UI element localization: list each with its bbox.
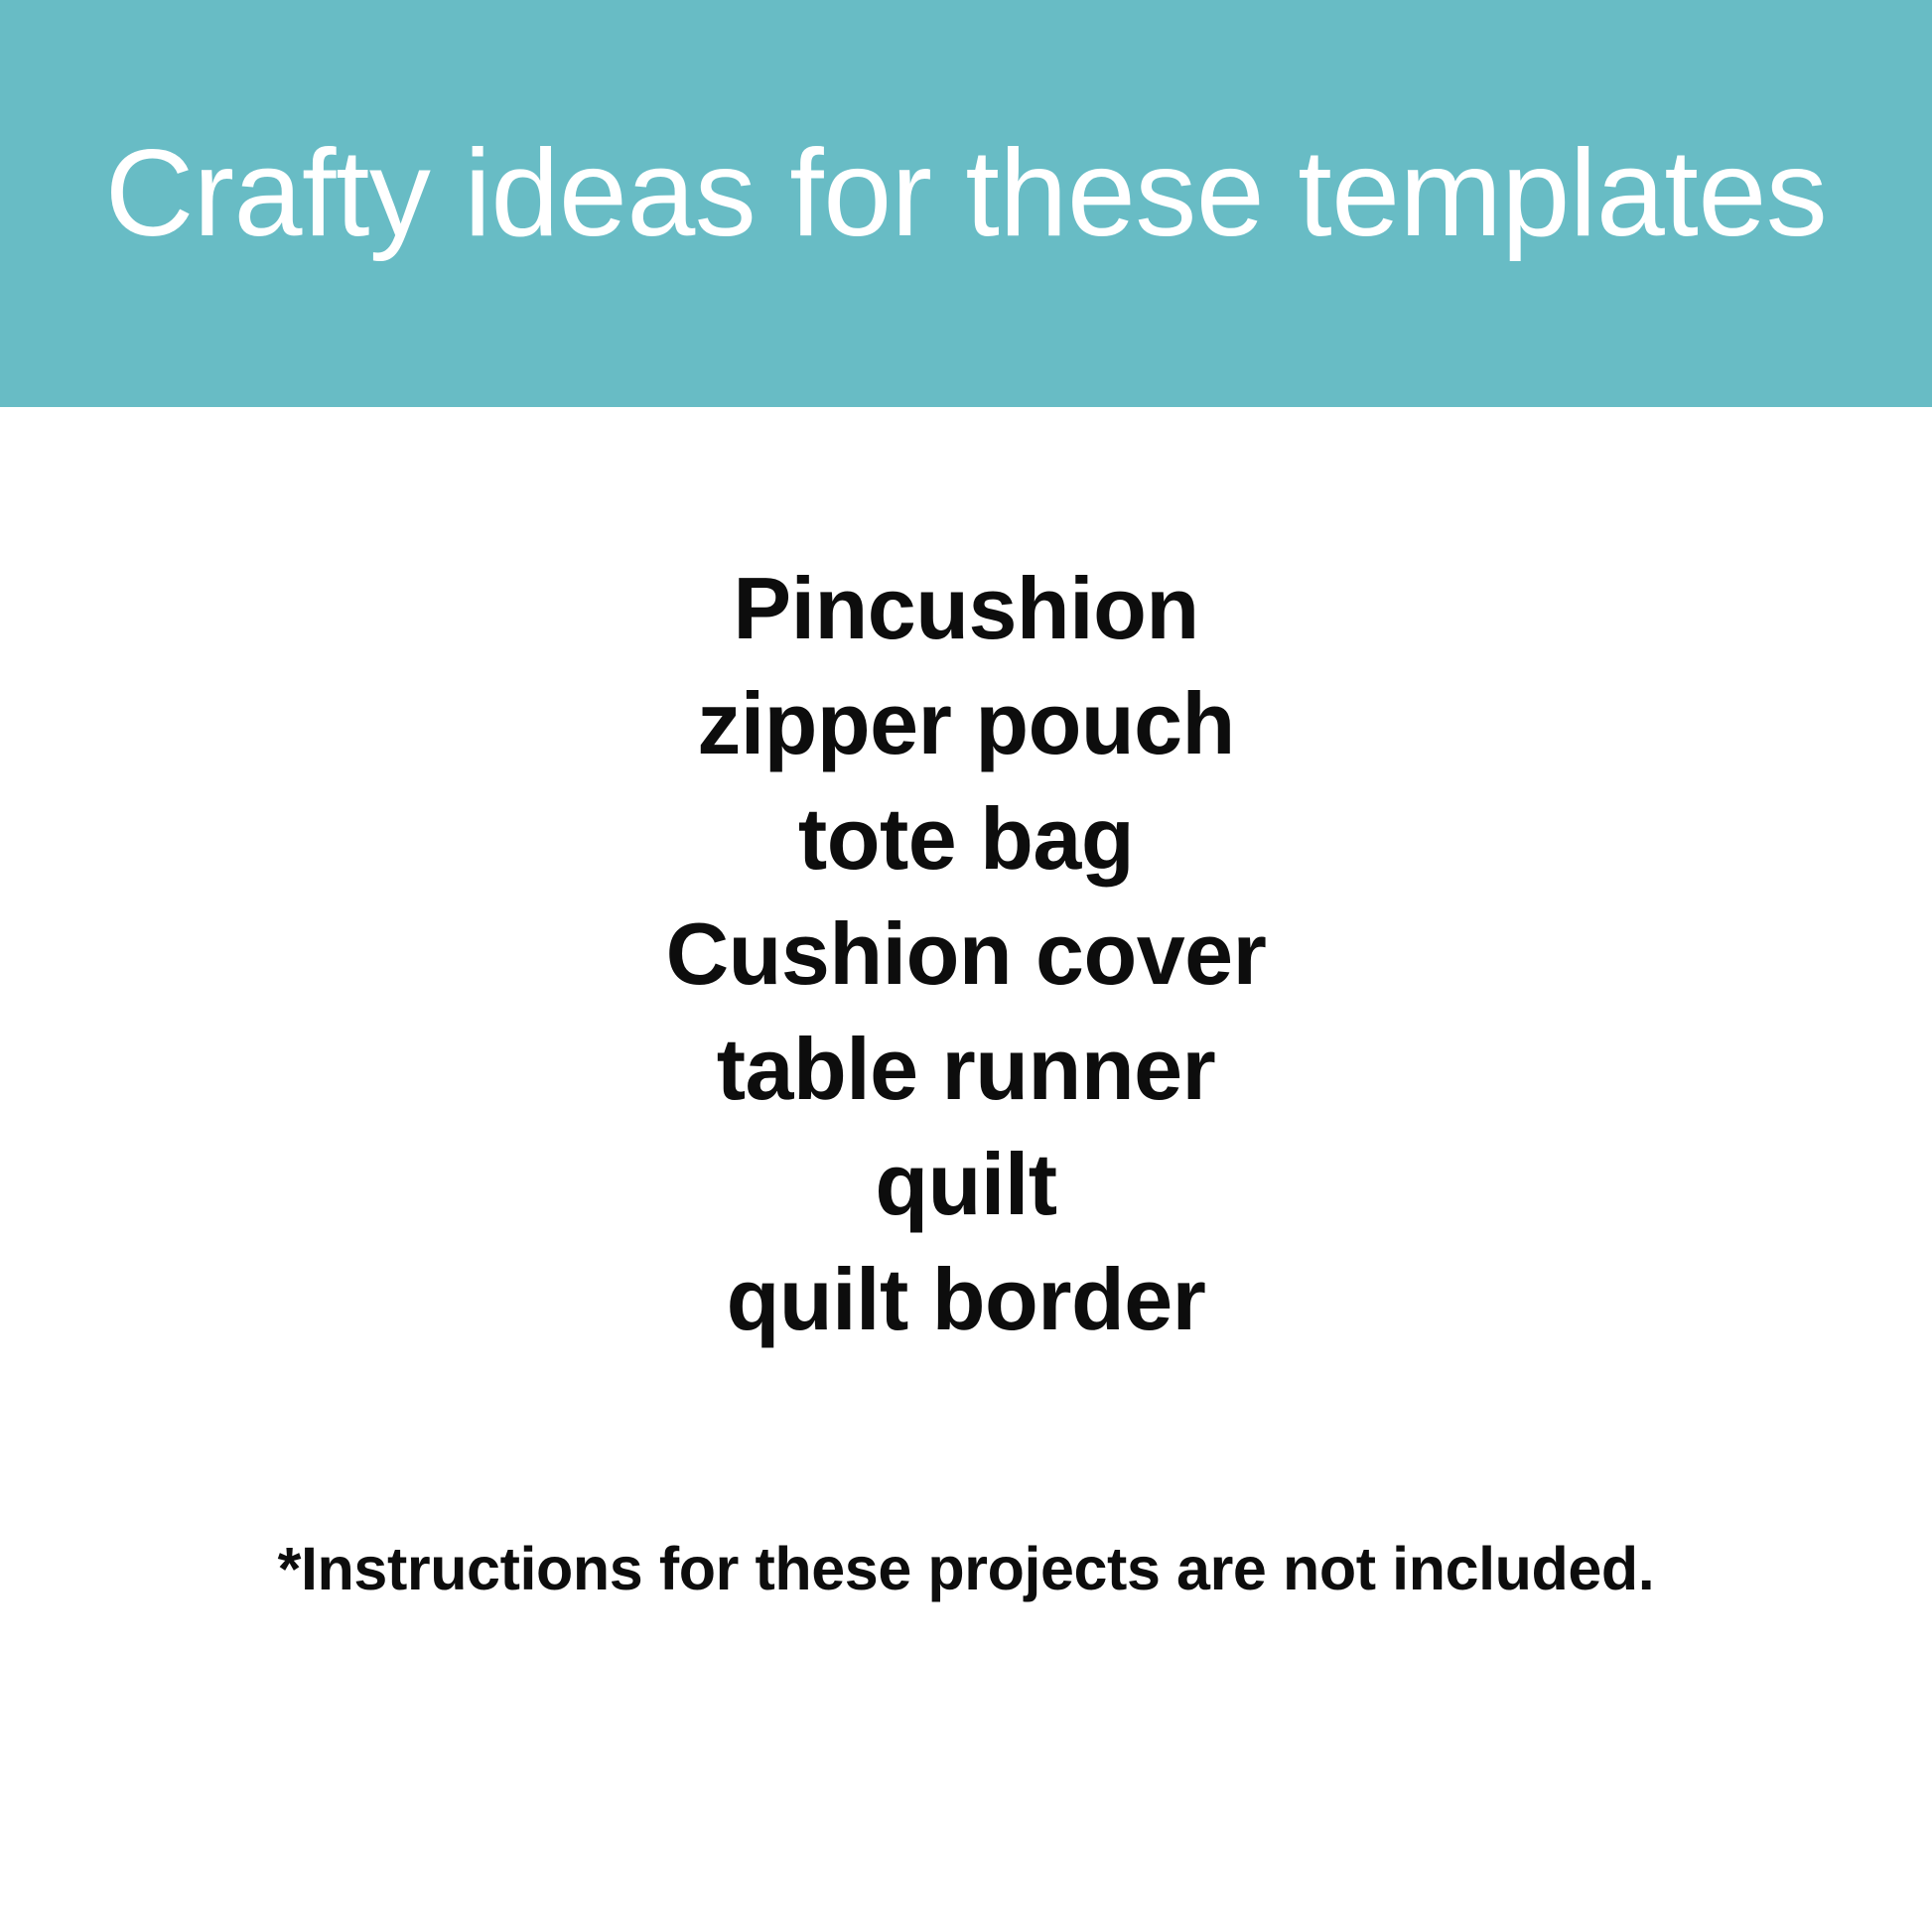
header-band: Crafty ideas for these templates (0, 0, 1932, 407)
list-item-label: table runner (717, 1020, 1216, 1118)
list-item-label: quilt (875, 1135, 1056, 1233)
page-title: Crafty ideas for these templates (105, 129, 1828, 258)
list-item-label: Cushion cover (666, 904, 1267, 1003)
list-item-label: zipper pouch (697, 674, 1235, 772)
list-item: Pincushion (0, 551, 1932, 666)
list-item: Cushion cover (0, 897, 1932, 1012)
page-canvas: Crafty ideas for these templates Pincush… (0, 0, 1932, 1932)
body-area: Pincushion zipper pouch tote bag Cushion… (0, 407, 1932, 1932)
list-item-label: quilt border (727, 1250, 1206, 1348)
list-item: tote bag (0, 781, 1932, 897)
list-item-label: tote bag (798, 789, 1134, 888)
list-item: quilt (0, 1127, 1932, 1242)
list-item: quilt border (0, 1242, 1932, 1357)
list-item: table runner (0, 1012, 1932, 1127)
list-item-label: Pincushion (733, 559, 1198, 657)
ideas-list: Pincushion zipper pouch tote bag Cushion… (0, 551, 1932, 1357)
list-item: zipper pouch (0, 666, 1932, 781)
footnote-disclaimer: *Instructions for these projects are not… (0, 1534, 1932, 1603)
